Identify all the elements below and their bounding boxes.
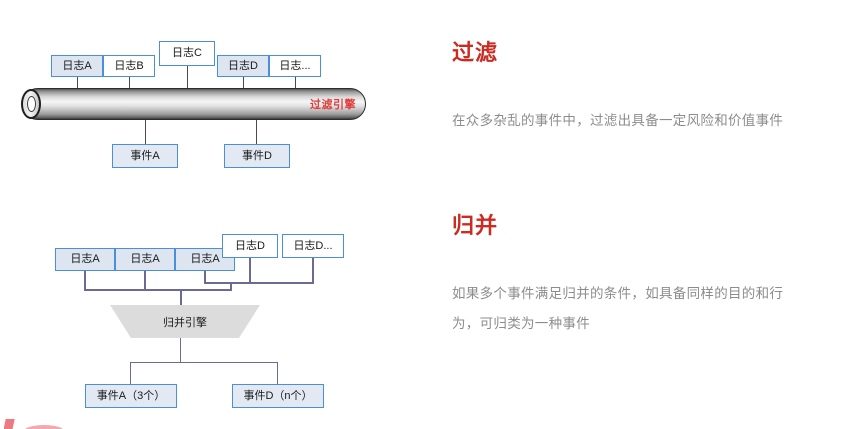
merge-log-label-4: 日志D bbox=[235, 241, 265, 252]
merge-engine-funnel: 归并引擎 bbox=[110, 305, 260, 338]
filter-event-box-2: 事件D bbox=[224, 144, 290, 168]
merge-event-box-1: 事件A（3个） bbox=[85, 384, 177, 408]
filter-event-label-2: 事件D bbox=[242, 151, 272, 162]
merge-output-stem bbox=[180, 338, 181, 363]
filter-log-box-4: 日志D bbox=[217, 55, 269, 77]
cut-off-red-bar bbox=[4, 419, 15, 429]
merge-section-body: 如果多个事件满足归并的条件，如具备同样的目的和行为，可归类为一种事件 bbox=[452, 279, 802, 339]
filter-event-label-1: 事件A bbox=[130, 151, 159, 162]
merge-bus-lower bbox=[84, 289, 232, 291]
filter-engine-label: 过滤引擎 bbox=[310, 96, 356, 112]
merge-log-label-2: 日志A bbox=[130, 254, 159, 265]
merge-log-label-1: 日志A bbox=[70, 254, 99, 265]
pipe-end-cap bbox=[21, 89, 41, 119]
merge-output-drop-2 bbox=[277, 362, 278, 384]
filter-log-box-1: 日志A bbox=[51, 55, 103, 77]
merge-connector-log-1 bbox=[84, 271, 86, 290]
merge-funnel-stem bbox=[180, 289, 182, 305]
text-column: 过滤 在众多杂乱的事件中，过滤出具备一定风险和价值事件 归并 如果多个事件满足归… bbox=[452, 0, 832, 427]
filter-log-label-3: 日志C bbox=[172, 48, 202, 59]
merge-bus-link bbox=[230, 282, 232, 290]
merge-event-box-2: 事件D（n个） bbox=[232, 384, 324, 408]
merge-connector-log-4 bbox=[249, 258, 251, 283]
merge-section-title: 归并 bbox=[452, 215, 498, 237]
merge-log-label-3: 日志A bbox=[190, 254, 219, 265]
filter-engine-pipe: 过滤引擎 bbox=[22, 88, 366, 120]
filter-section-body: 在众多杂乱的事件中，过滤出具备一定风险和价值事件 bbox=[452, 106, 802, 136]
merge-engine-label: 归并引擎 bbox=[110, 314, 260, 330]
filter-event-box-1: 事件A bbox=[112, 144, 178, 168]
cut-off-red-blob bbox=[24, 425, 64, 429]
merge-log-box-1: 日志A bbox=[55, 248, 115, 271]
merge-bus-upper bbox=[204, 282, 314, 284]
merge-connector-log-2 bbox=[144, 271, 146, 290]
pipe-end-cap-inner bbox=[27, 96, 36, 112]
merge-event-label-1: 事件A（3个） bbox=[97, 391, 165, 402]
merge-log-label-5: 日志D... bbox=[293, 241, 332, 252]
filter-log-box-3: 日志C bbox=[159, 41, 215, 66]
filter-log-label-2: 日志B bbox=[114, 61, 143, 72]
filter-log-box-2: 日志B bbox=[103, 55, 155, 77]
filter-log-box-5: 日志... bbox=[269, 55, 321, 77]
cut-off-red-decoration bbox=[4, 419, 64, 429]
merge-output-bus bbox=[130, 362, 278, 363]
filter-log-label-1: 日志A bbox=[62, 61, 91, 72]
merge-log-box-2: 日志A bbox=[115, 248, 175, 271]
filter-section-title: 过滤 bbox=[452, 42, 498, 64]
filter-log-label-4: 日志D bbox=[228, 61, 258, 72]
merge-log-box-4: 日志D bbox=[222, 234, 278, 258]
merge-log-box-5: 日志D... bbox=[282, 234, 344, 258]
merge-output-drop-1 bbox=[130, 362, 131, 384]
merge-connector-log-5 bbox=[312, 258, 314, 283]
filter-log-label-5: 日志... bbox=[279, 61, 310, 72]
merge-event-label-2: 事件D（n个） bbox=[243, 391, 312, 402]
diagram-area: 日志A 日志B 日志C 日志D 日志... 过滤引擎 bbox=[0, 0, 430, 427]
